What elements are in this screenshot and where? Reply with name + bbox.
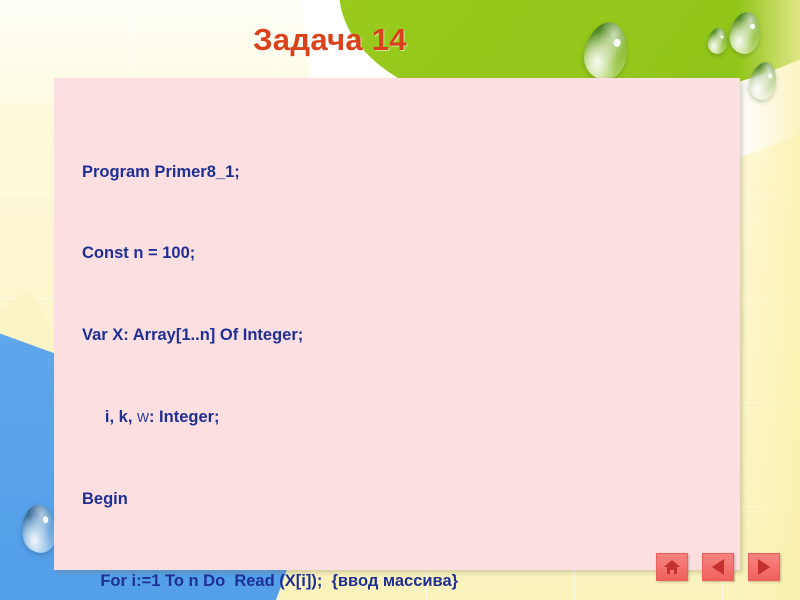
code-line: Program Primer8_1; — [82, 159, 734, 186]
code-panel: Program Primer8_1; Const n = 100; Var X:… — [54, 78, 740, 570]
home-button[interactable] — [656, 553, 688, 581]
code-line: Var X: Array[1..n] Of Integer; — [82, 322, 734, 349]
droplet-highlight — [767, 73, 772, 79]
pascal-code-listing: Program Primer8_1; Const n = 100; Var X:… — [82, 104, 734, 600]
code-line: Begin — [82, 486, 734, 513]
slide-canvas: Задача 14 Program Primer8_1; Const n = 1… — [0, 0, 800, 600]
droplet-highlight — [720, 35, 723, 39]
next-slide-button[interactable] — [748, 553, 780, 581]
arrow-right-icon — [758, 559, 770, 575]
page-title: Задача 14 — [0, 22, 660, 58]
arrow-left-icon — [712, 559, 724, 575]
code-line: i, k, w: Integer; — [82, 404, 734, 431]
droplet-highlight — [43, 516, 49, 523]
droplet-highlight — [750, 24, 756, 30]
code-line: Const n = 100; — [82, 240, 734, 267]
variable-w: w — [137, 408, 149, 426]
home-icon-door — [670, 570, 674, 574]
code-line: For i:=1 To n Do Read (X[i]); {ввод масс… — [82, 568, 734, 595]
home-icon — [664, 560, 680, 574]
previous-slide-button[interactable] — [702, 553, 734, 581]
